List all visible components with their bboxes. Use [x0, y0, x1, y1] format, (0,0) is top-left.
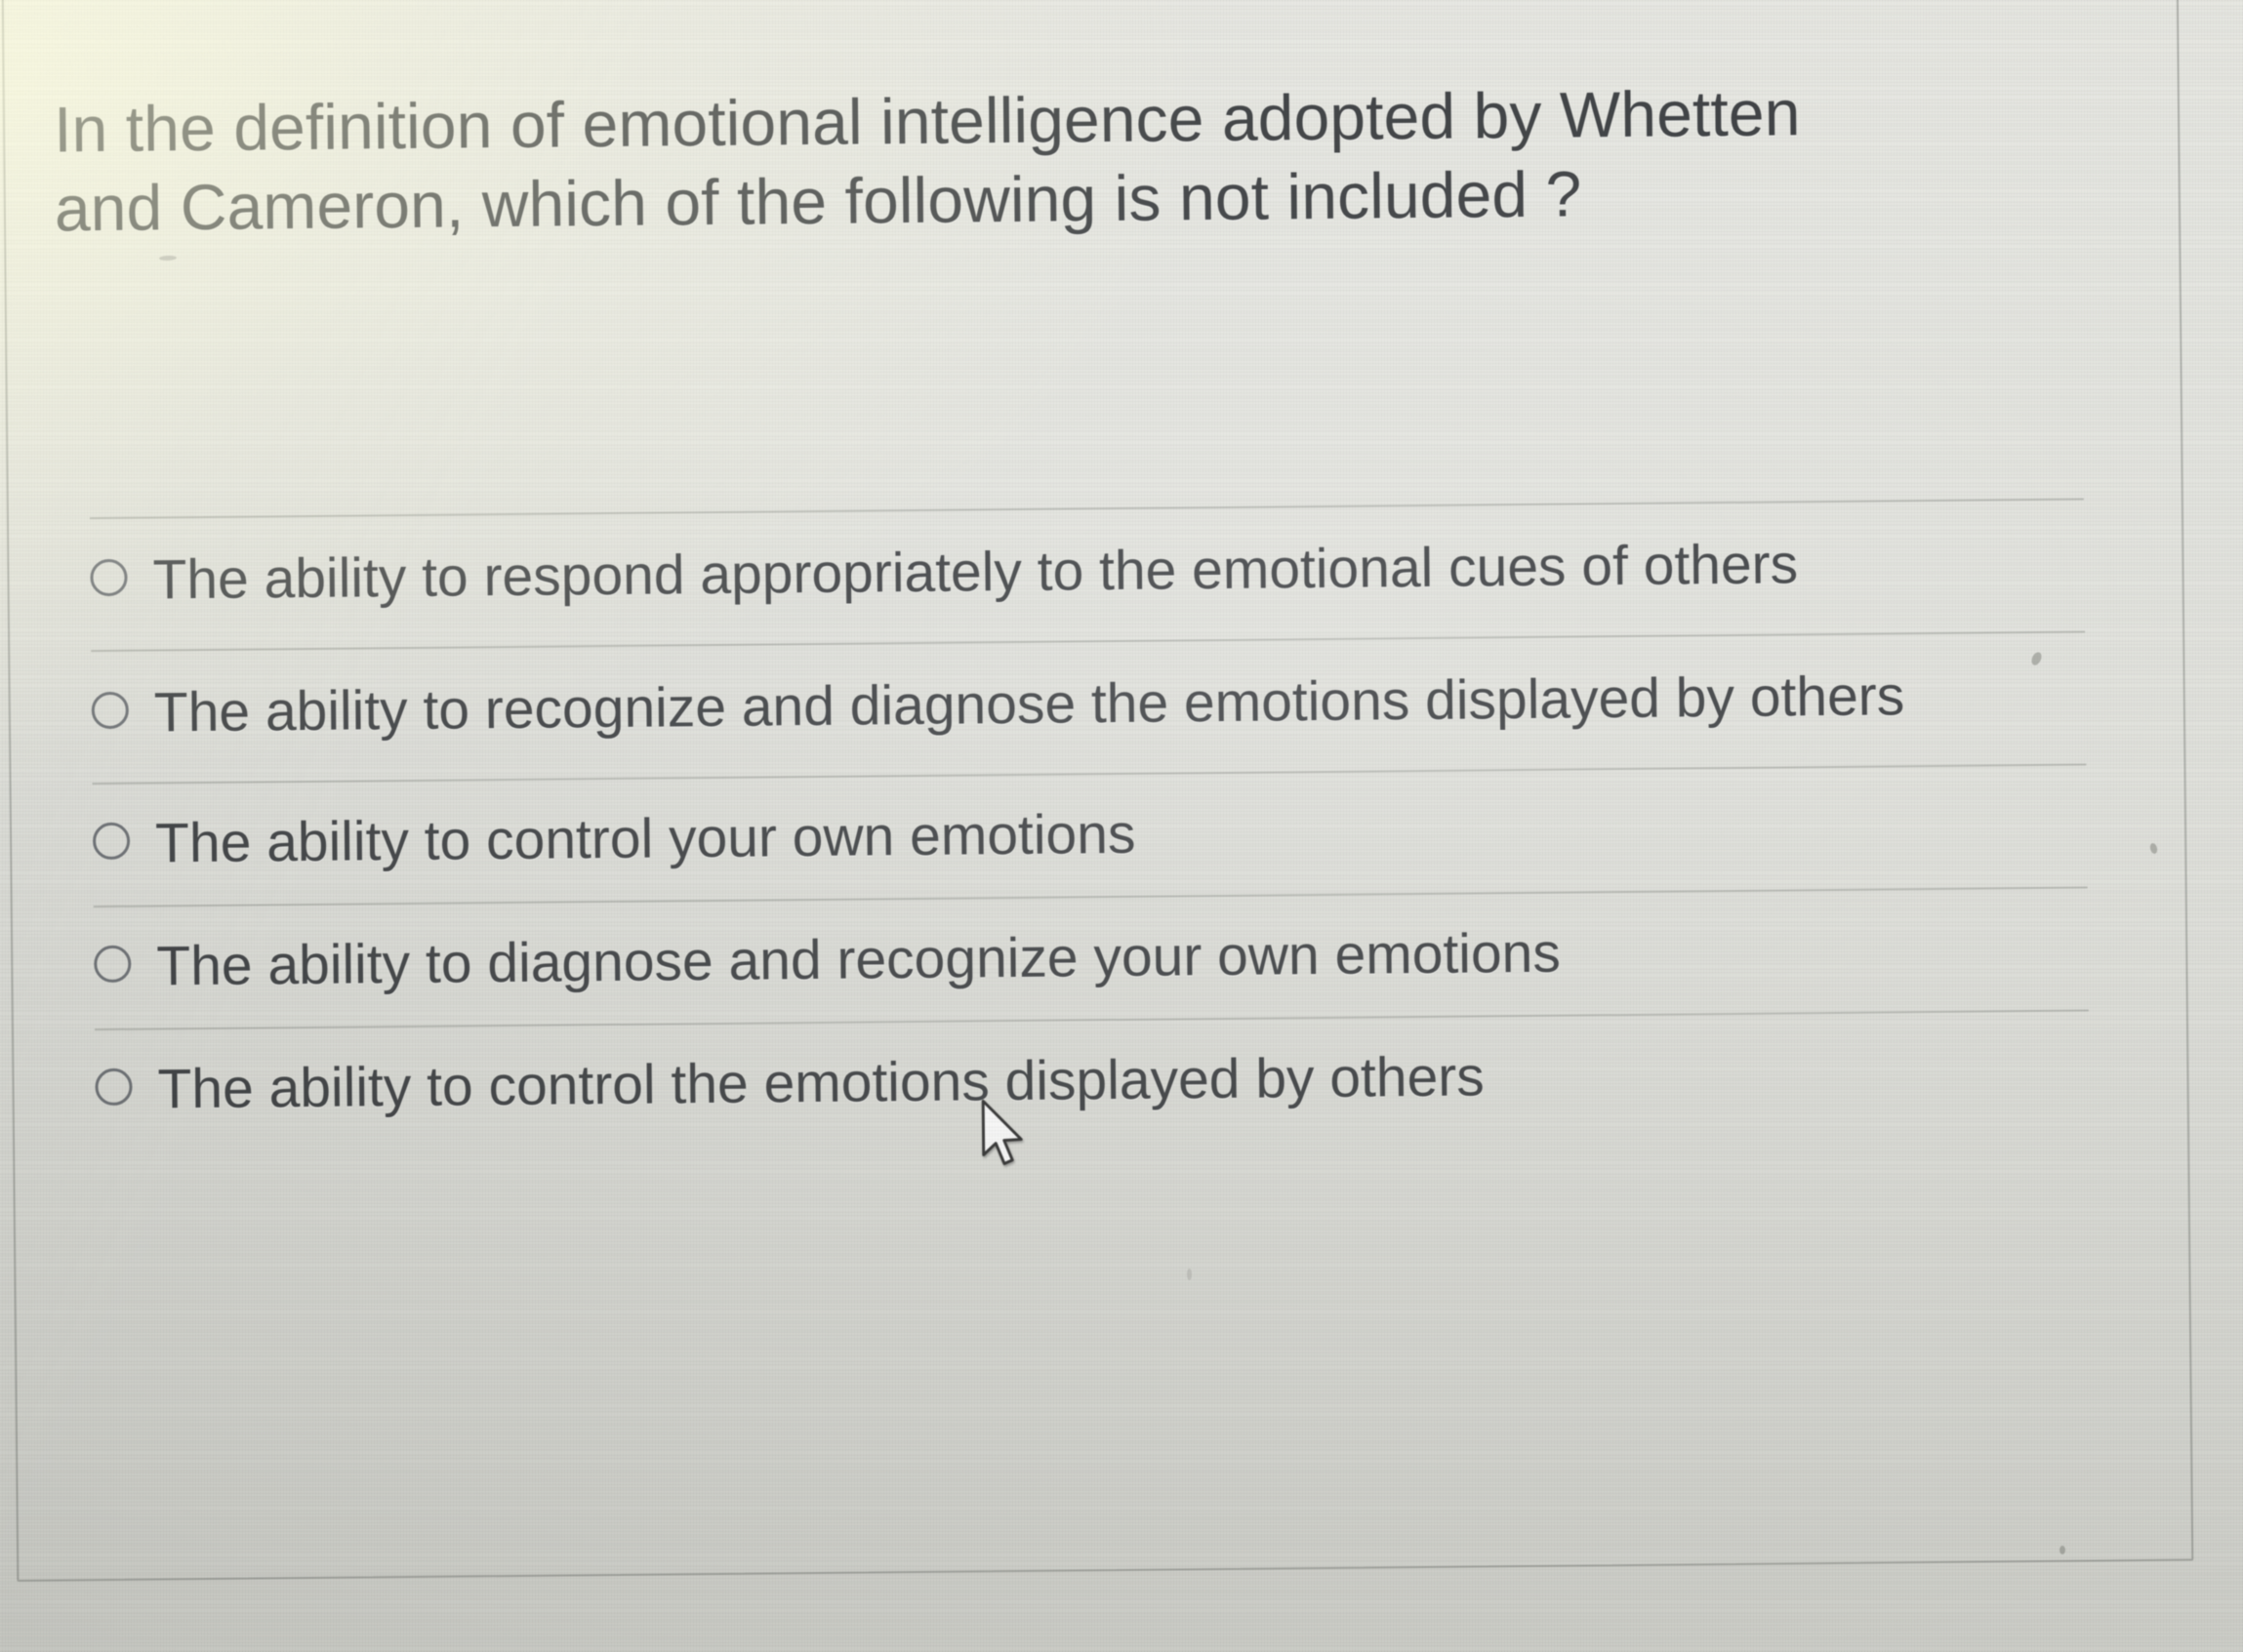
answer-option-1[interactable]: The ability to respond appropriately to … [90, 499, 2085, 651]
radio-unchecked-icon-4[interactable] [94, 946, 131, 983]
answer-option-3[interactable]: The ability to control your own emotions [93, 764, 2088, 907]
quiz-page: In the definition of emotional intellige… [0, 0, 2243, 1652]
screenshot-root: In the definition of emotional intellige… [0, 0, 2243, 1652]
radio-unchecked-icon-3[interactable] [93, 823, 130, 860]
answer-option-1-label[interactable]: The ability to respond appropriately to … [152, 528, 1798, 616]
question-text: In the definition of emotional intellige… [54, 72, 1909, 249]
radio-unchecked-icon-2[interactable] [92, 692, 129, 729]
answer-option-3-label[interactable]: The ability to control your own emotions [155, 798, 1136, 880]
answer-option-2[interactable]: The ability to recognize and diagnose th… [91, 631, 2086, 784]
radio-unchecked-icon-5[interactable] [95, 1068, 132, 1106]
answer-option-4-label[interactable]: The ability to diagnose and recognize yo… [156, 917, 1561, 1003]
answer-option-2-label[interactable]: The ability to recognize and diagnose th… [153, 660, 1904, 748]
radio-unchecked-icon-1[interactable] [90, 559, 127, 596]
answer-option-5-label[interactable]: The ability to control the emotions disp… [157, 1041, 1485, 1126]
answer-options-list: The ability to respond appropriately to … [0, 498, 2180, 1153]
answer-option-4[interactable]: The ability to diagnose and recognize yo… [94, 887, 2089, 1029]
question-block: In the definition of emotional intellige… [54, 72, 1909, 249]
answer-option-5[interactable]: The ability to control the emotions disp… [95, 1010, 2090, 1152]
